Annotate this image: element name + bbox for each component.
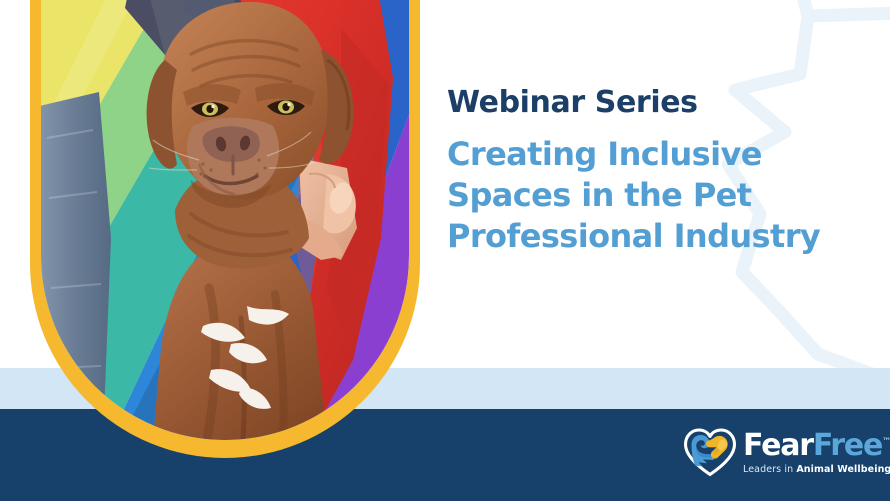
page-title: Creating Inclusive Spaces in the Pet Pro… [447, 134, 867, 257]
headline-line-1: Creating Inclusive [447, 134, 867, 175]
fear-free-logo[interactable]: FearFree™ Leaders in Animal Wellbeing [683, 420, 879, 482]
tagline-bold-part: Animal Wellbeing [796, 464, 890, 475]
banner-canvas: Webinar Series Creating Inclusive Spaces… [0, 0, 890, 501]
tagline-light-part: Leaders in [743, 464, 796, 475]
eyebrow-webinar-series: Webinar Series [447, 86, 867, 120]
logo-wordmark-block: FearFree™ Leaders in Animal Wellbeing [743, 427, 890, 476]
logo-tagline: Leaders in Animal Wellbeing [743, 464, 890, 476]
photo-dog-pride-flag [41, 0, 409, 440]
wordmark-fear: Fear [743, 428, 813, 463]
wordmark-free: Free [813, 428, 882, 463]
trademark-symbol: ™ [882, 437, 890, 447]
text-column: Webinar Series Creating Inclusive Spaces… [447, 86, 867, 257]
headline-line-3: Professional Industry [447, 216, 867, 257]
headline-line-2: Spaces in the Pet [447, 175, 867, 216]
logo-wordmark: FearFree™ [743, 427, 890, 461]
heart-paw-icon [683, 424, 737, 478]
photo-frame [30, 0, 420, 458]
